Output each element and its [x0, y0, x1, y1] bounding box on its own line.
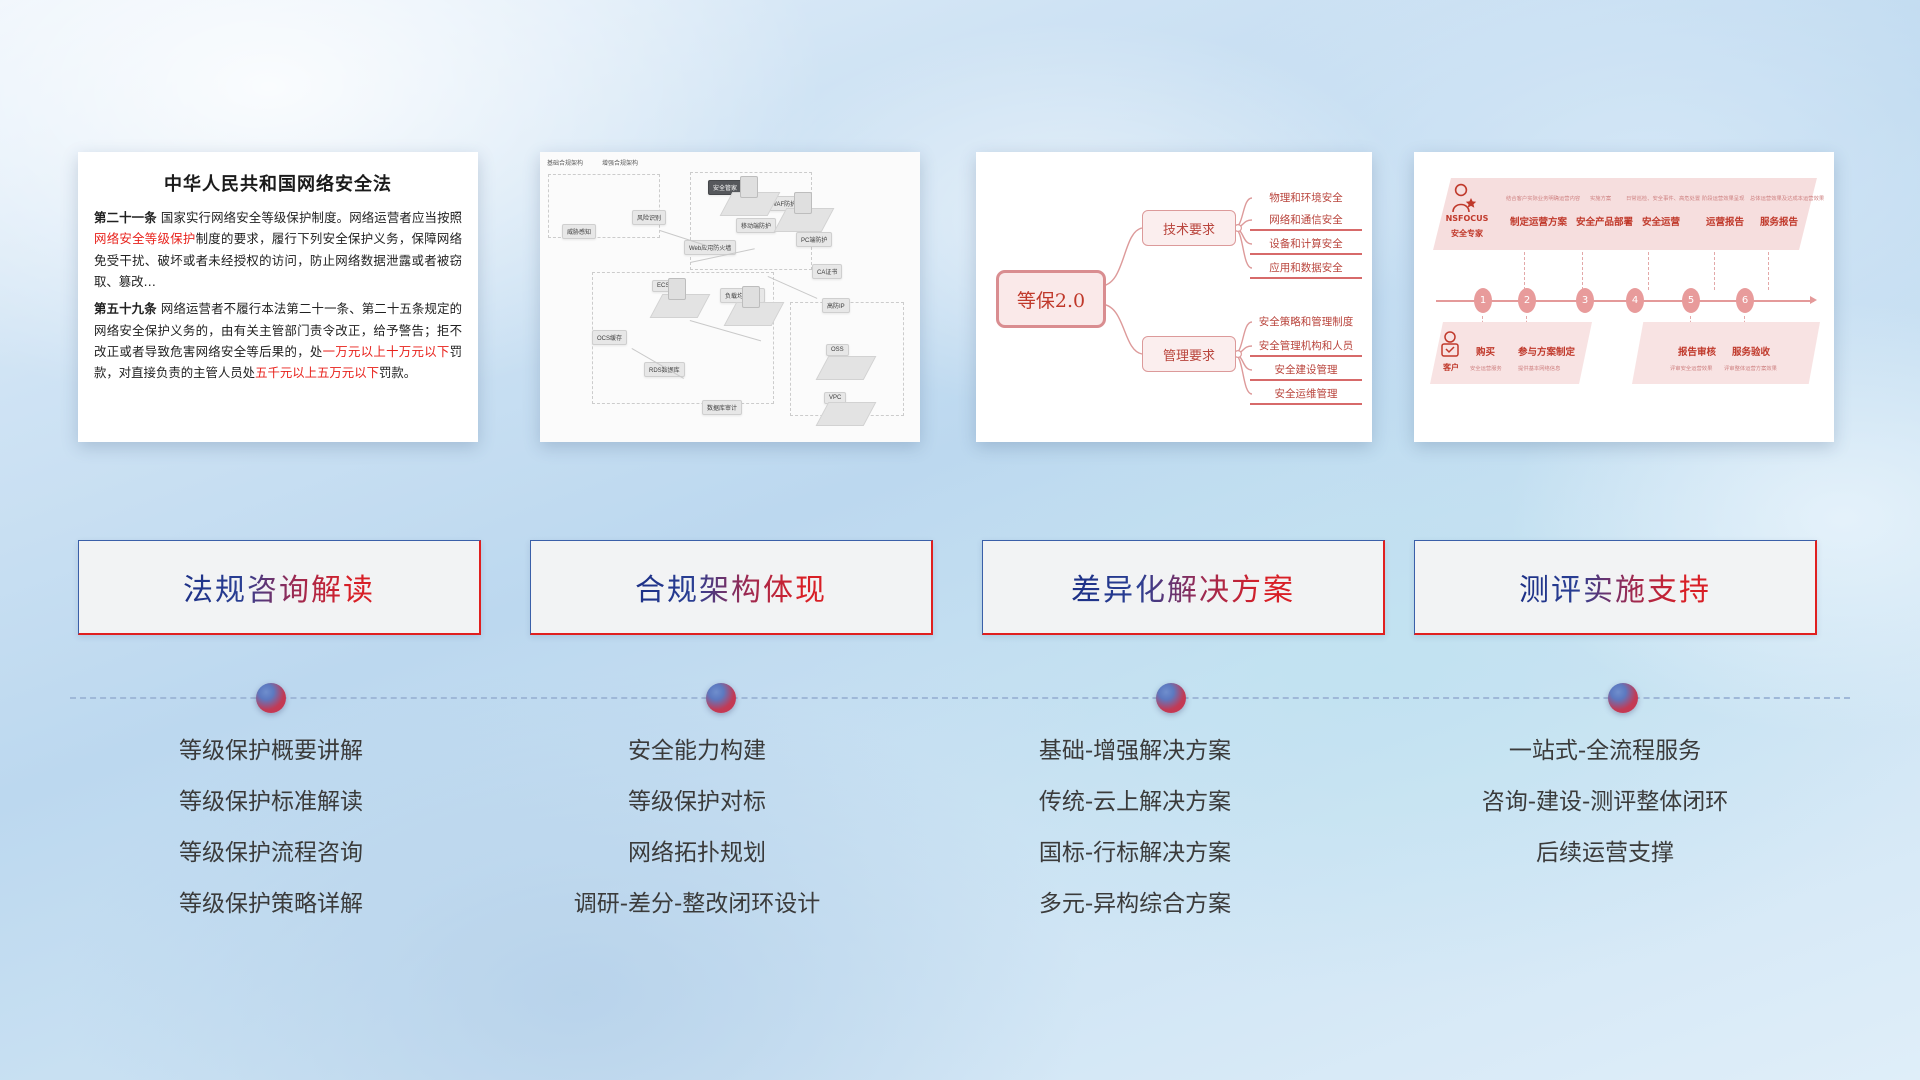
- section-header-2[interactable]: 合规架构体现: [530, 540, 933, 635]
- article-21-highlight: 网络安全等级保护: [94, 231, 196, 246]
- vendor-label-line2: 安全专家: [1436, 228, 1498, 239]
- mindmap-leaf-t0: 物理和环境安全: [1250, 190, 1362, 207]
- dengbao-mindmap: 等保2.0 技术要求 管理要求 物理和环境安全 网络和通信安全 设备和计算安全 …: [976, 152, 1372, 442]
- section-header-4-label: 测评实施支持: [1519, 565, 1711, 609]
- list-item: 调研-差分-整改闭环设计: [482, 893, 912, 916]
- mindmap-leaf-m0: 安全策略和管理制度: [1250, 314, 1362, 331]
- step-name-2: 安全产品部署: [1576, 214, 1633, 228]
- section-header-4[interactable]: 测评实施支持: [1414, 540, 1817, 635]
- list-item: 咨询-建设-测评整体闭环: [1390, 791, 1820, 814]
- section-header-2-label: 合规架构体现: [635, 565, 827, 609]
- customer-step-name-4: 服务验收: [1732, 344, 1770, 358]
- topology-node-14: 移动端防护: [736, 218, 776, 233]
- vendor-label-line1: NSFOCUS: [1436, 214, 1498, 223]
- step-sub-3: 日常巡检、安全事件、高危处置: [1626, 194, 1700, 202]
- topology-card[interactable]: 基础合规架构 增强合规架构 安全管家 风险识别 威胁感知 WAF防护 Web应用…: [540, 152, 920, 442]
- article-59-label: 第五十九条: [94, 301, 157, 316]
- timeline-node-4: 4: [1626, 288, 1644, 313]
- customer-step-name-3: 报告审核: [1678, 344, 1716, 358]
- law-article-21: 第二十一条 国家实行网络安全等级保护制度。网络运营者应当按照网络安全等级保护制度…: [94, 207, 462, 292]
- section-header-1-label: 法规咨询解读: [183, 565, 375, 609]
- list-item: 安全能力构建: [482, 740, 912, 763]
- customer-step-sub-1: 安全运营服务: [1470, 364, 1502, 372]
- customer-step-name-2: 参与方案制定: [1518, 344, 1575, 358]
- step-sub-4: 阶段运营效果呈现: [1702, 194, 1744, 202]
- slide-stage: 中华人民共和国网络安全法 第二十一条 国家实行网络安全等级保护制度。网络运营者应…: [0, 0, 1920, 1080]
- step-name-4: 运营报告: [1706, 214, 1744, 228]
- topology-node-7: CA证书: [812, 264, 842, 279]
- customer-step-sub-3: 评审安全运营效果: [1670, 364, 1712, 372]
- customer-icon: [1438, 330, 1464, 360]
- customer-step-name-1: 购买: [1476, 344, 1495, 358]
- timeline-marker-3[interactable]: [1156, 683, 1186, 713]
- customer-step-sub-2: 提供基本网络信息: [1518, 364, 1560, 372]
- mindmap-leaf-t1: 网络和通信安全: [1250, 212, 1362, 231]
- mindmap-root: 等保2.0: [996, 270, 1106, 328]
- timeline-marker-2[interactable]: [706, 683, 736, 713]
- law-article-59: 第五十九条 网络运营者不履行本法第二十一条、第二十五条规定的网络安全保护义务的，…: [94, 298, 462, 383]
- article-21-text-a: 国家实行网络安全等级保护制度。网络运营者应当按照: [161, 210, 462, 225]
- detail-list-1: 等级保护概要讲解 等级保护标准解读 等级保护流程咨询 等级保护策略详解: [56, 740, 486, 944]
- list-item: 等级保护流程咨询: [56, 842, 486, 865]
- timeline-node-3: 3: [1576, 288, 1594, 313]
- timeline-marker-1[interactable]: [256, 683, 286, 713]
- section-header-1[interactable]: 法规咨询解读: [78, 540, 481, 635]
- topology-header-right: 增强合规架构: [602, 158, 638, 167]
- mindmap-card[interactable]: 等保2.0 技术要求 管理要求 物理和环境安全 网络和通信安全 设备和计算安全 …: [976, 152, 1372, 442]
- topology-node-8: 高防IP: [822, 298, 850, 313]
- section-header-row: 法规咨询解读 合规架构体现 差异化解决方案 测评实施支持: [0, 540, 1920, 650]
- topology-node-9: OSS: [826, 344, 849, 356]
- step-name-3: 安全运营: [1642, 214, 1680, 228]
- mindmap-leaf-m3: 安全运维管理: [1250, 386, 1362, 405]
- topology-node-2: 威胁感知: [562, 224, 596, 239]
- list-item: 基础-增强解决方案: [920, 740, 1350, 763]
- nsfocus-roadmap-diagram: NSFOCUS 安全专家 结合客户实际业务明确运营内容 制定运营方案 实施方案 …: [1414, 152, 1834, 442]
- detail-list-3: 基础-增强解决方案 传统-云上解决方案 国标-行标解决方案 多元-异构综合方案: [920, 740, 1350, 944]
- timeline-node-2: 2: [1518, 288, 1536, 313]
- mindmap-branch-management: 管理要求: [1142, 336, 1236, 372]
- list-item: 网络拓扑规划: [482, 842, 912, 865]
- detail-list-4: 一站式-全流程服务 咨询-建设-测评整体闭环 后续运营支撑: [1390, 740, 1820, 893]
- topology-header-left: 基础合规架构: [547, 158, 583, 167]
- timeline-dashed-line: [70, 697, 1850, 699]
- timeline-marker-4[interactable]: [1608, 683, 1638, 713]
- law-title: 中华人民共和国网络安全法: [94, 170, 462, 196]
- roadmap-card[interactable]: NSFOCUS 安全专家 结合客户实际业务明确运营内容 制定运营方案 实施方案 …: [1414, 152, 1834, 442]
- article-21-label: 第二十一条: [94, 210, 157, 225]
- law-card[interactable]: 中华人民共和国网络安全法 第二十一条 国家实行网络安全等级保护制度。网络运营者应…: [78, 152, 478, 442]
- topology-node-13: 数据库审计: [702, 400, 742, 415]
- list-item: 国标-行标解决方案: [920, 842, 1350, 865]
- topology-node-1: 风险识别: [632, 210, 666, 225]
- step-sub-5: 总体运营效果及达成本运营效果: [1750, 194, 1824, 202]
- section-header-3[interactable]: 差异化解决方案: [982, 540, 1385, 635]
- mindmap-leaf-t2: 设备和计算安全: [1250, 236, 1362, 255]
- list-item: 等级保护标准解读: [56, 791, 486, 814]
- thumbnail-row: 中华人民共和国网络安全法 第二十一条 国家实行网络安全等级保护制度。网络运营者应…: [0, 0, 1920, 460]
- article-59-text-c: 罚款。: [379, 365, 416, 380]
- customer-step-sub-4: 评审整体运营方案效果: [1724, 364, 1777, 372]
- timeline-node-6: 6: [1736, 288, 1754, 313]
- timeline-strip: [0, 676, 1920, 736]
- list-item: 一站式-全流程服务: [1390, 740, 1820, 763]
- mindmap-leaf-m1: 安全管理机构和人员: [1250, 338, 1362, 357]
- article-59-highlight-1: 一万元以上十万元以下: [323, 344, 450, 359]
- list-item: 等级保护策略详解: [56, 893, 486, 916]
- list-item: 等级保护概要讲解: [56, 740, 486, 763]
- mindmap-branch-technical: 技术要求: [1142, 210, 1236, 246]
- mindmap-leaf-m2: 安全建设管理: [1250, 362, 1362, 381]
- step-sub-1: 结合客户实际业务明确运营内容: [1506, 194, 1580, 202]
- step-sub-2: 实施方案: [1590, 194, 1611, 202]
- list-item: 后续运营支撑: [1390, 842, 1820, 865]
- detail-list-row: 等级保护概要讲解 等级保护标准解读 等级保护流程咨询 等级保护策略详解 安全能力…: [0, 740, 1920, 1000]
- step-name-1: 制定运营方案: [1510, 214, 1567, 228]
- list-item: 等级保护对标: [482, 791, 912, 814]
- detail-list-2: 安全能力构建 等级保护对标 网络拓扑规划 调研-差分-整改闭环设计: [482, 740, 912, 944]
- topology-node-15: PC端防护: [796, 232, 832, 247]
- customer-label: 客户: [1434, 362, 1468, 373]
- list-item: 多元-异构综合方案: [920, 893, 1350, 916]
- article-59-highlight-2: 五千元以上五万元以下: [255, 365, 379, 380]
- mindmap-leaf-t3: 应用和数据安全: [1250, 260, 1362, 279]
- topology-node-12: OCS缓存: [592, 330, 627, 345]
- timeline-node-5: 5: [1682, 288, 1700, 313]
- security-expert-icon: [1448, 182, 1478, 216]
- step-name-5: 服务报告: [1760, 214, 1798, 228]
- cloud-topology-diagram: 基础合规架构 增强合规架构 安全管家 风险识别 威胁感知 WAF防护 Web应用…: [540, 152, 920, 442]
- timeline-node-1: 1: [1474, 288, 1492, 313]
- list-item: 传统-云上解决方案: [920, 791, 1350, 814]
- section-header-3-label: 差异化解决方案: [1071, 565, 1295, 609]
